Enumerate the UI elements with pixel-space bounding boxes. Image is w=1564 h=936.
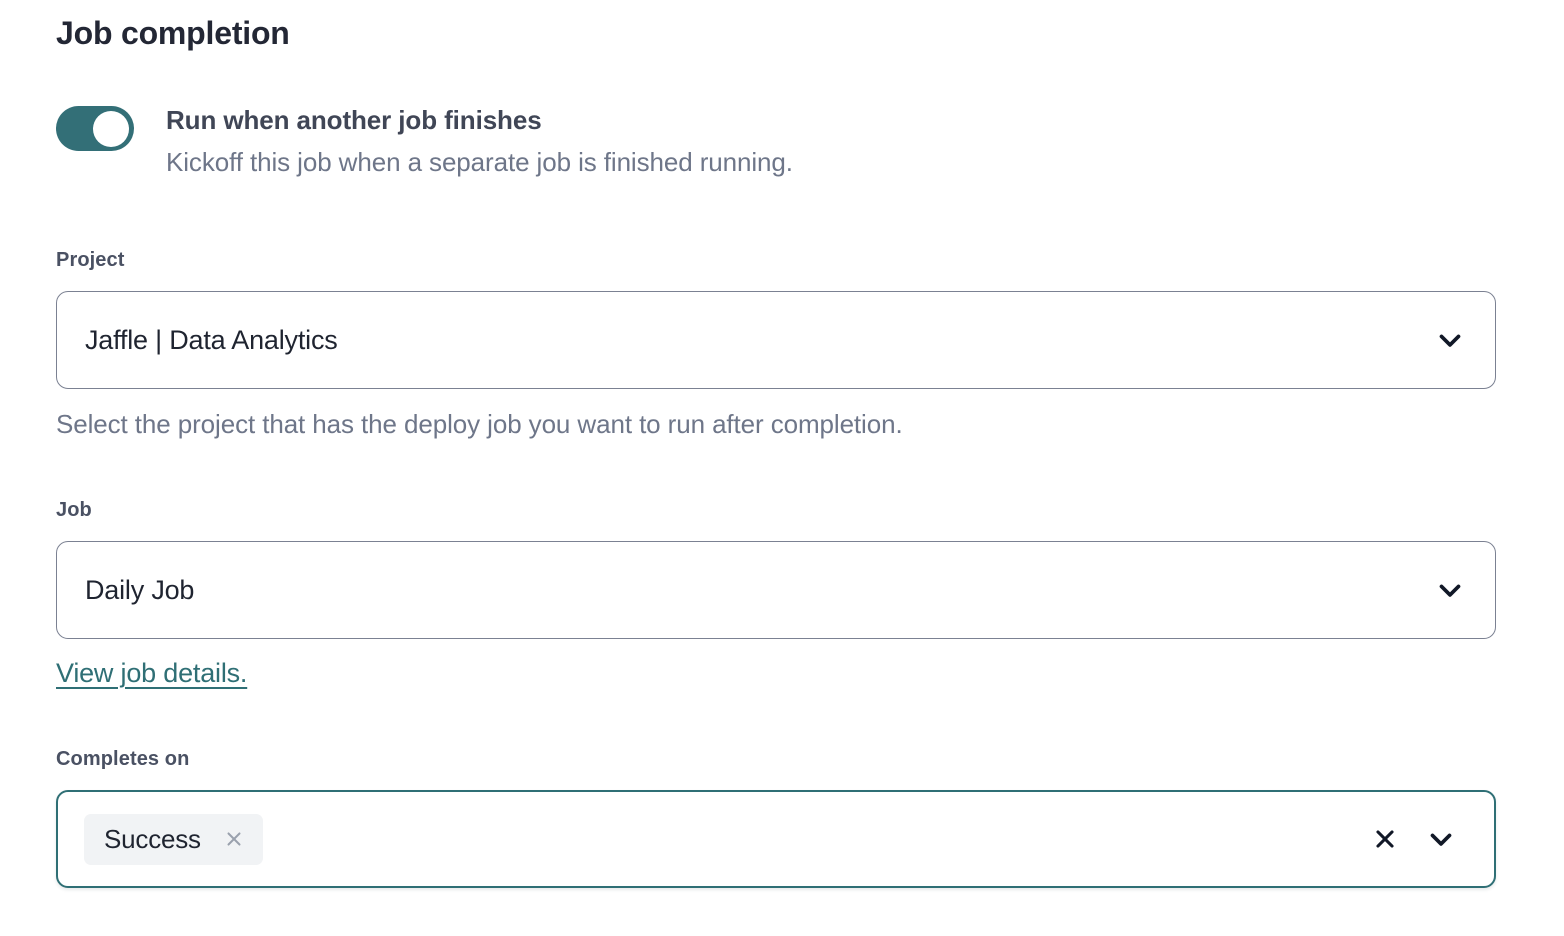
tag-success[interactable]: Success: [84, 814, 263, 865]
job-field-label: Job: [56, 499, 92, 522]
view-job-details-link[interactable]: View job details.: [56, 658, 247, 689]
toggle-description: Kickoff this job when a separate job is …: [166, 146, 793, 180]
project-helper-text: Select the project that has the deploy j…: [56, 409, 903, 440]
job-select-value: Daily Job: [57, 575, 1433, 606]
chevron-down-icon[interactable]: [1433, 323, 1467, 357]
chevron-down-icon[interactable]: [1433, 573, 1467, 607]
project-select[interactable]: Jaffle | Data Analytics: [56, 291, 1496, 389]
job-select[interactable]: Daily Job: [56, 541, 1496, 639]
close-icon[interactable]: [223, 828, 245, 850]
project-select-icons: [1433, 323, 1495, 357]
toggle-text-group: Run when another job finishes Kickoff th…: [166, 104, 793, 180]
page-title: Job completion: [56, 14, 290, 52]
toggle-knob: [93, 111, 129, 147]
toggle-label: Run when another job finishes: [166, 104, 793, 137]
completes-on-tag-list: Success: [58, 814, 1372, 865]
chevron-down-icon[interactable]: [1424, 822, 1458, 856]
job-select-icons: [1433, 573, 1495, 607]
run-when-another-job-finishes-toggle[interactable]: [56, 106, 134, 151]
project-select-value: Jaffle | Data Analytics: [57, 325, 1433, 356]
clear-selection-close-icon[interactable]: [1372, 826, 1398, 852]
completes-on-multiselect[interactable]: Success: [56, 790, 1496, 888]
completes-on-field-label: Completes on: [56, 748, 189, 771]
run-when-another-job-finishes-row: Run when another job finishes Kickoff th…: [56, 104, 793, 180]
project-field-label: Project: [56, 249, 125, 272]
completes-on-icons: [1372, 822, 1494, 856]
job-completion-settings-panel: Job completion Run when another job fini…: [0, 0, 1564, 936]
tag-label: Success: [104, 824, 201, 855]
